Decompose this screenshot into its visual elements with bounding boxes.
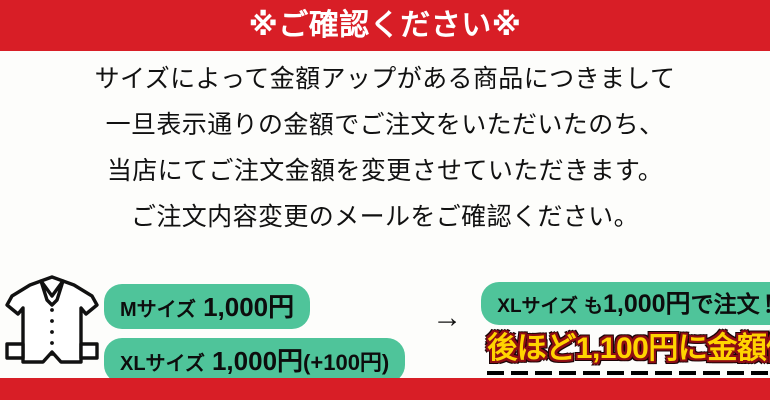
footer-banner — [0, 378, 770, 400]
right-arrow-icon: → — [432, 303, 462, 333]
xl-order-particle: も — [584, 291, 603, 318]
xl-order-price-badge: XLサイズ も 1,000円 で注文 ！ — [481, 282, 770, 325]
price-correction-row: 後ほど1,100円に金額修正 — [487, 332, 770, 375]
m-size-price-badge: Mサイズ 1,000円 — [104, 284, 310, 329]
before-price-column: Mサイズ 1,000円 XLサイズ 1,000円 (+100円) — [104, 268, 405, 383]
xl-size-amount: 1,000円 — [212, 341, 303, 378]
notice-line-4: ご注文内容変更のメールをご確認ください。 — [131, 194, 639, 240]
dashed-underline — [487, 371, 770, 375]
notice-line-1: サイズによって金額アップがある商品につきまして — [95, 56, 676, 102]
header-banner: ※ご確認ください※ — [0, 0, 770, 51]
xl-order-amount: 1,000円 — [603, 284, 691, 320]
notice-line-2: 一旦表示通りの金額でご注文をいただいたのち、 — [106, 102, 665, 148]
xl-order-tail-label: で注文 — [691, 285, 760, 319]
after-price-column: XLサイズ も 1,000円 で注文 ！ 後ほど1,100円に金額修正 — [481, 268, 770, 375]
xl-order-exclamation: ！ — [763, 285, 770, 319]
shirt-icon-wrapper — [0, 268, 104, 370]
xl-order-size-label: XLサイズ — [497, 291, 578, 318]
xl-size-surcharge: (+100円) — [303, 345, 389, 377]
xl-size-price-badge: XLサイズ 1,000円 (+100円) — [104, 338, 405, 383]
price-comparison-zone: Mサイズ 1,000円 XLサイズ 1,000円 (+100円) → XLサイズ… — [0, 268, 770, 378]
transition-arrow-wrapper: → — [411, 268, 483, 368]
notice-paragraph: サイズによって金額アップがある商品につきまして 一旦表示通りの金額でご注文をいた… — [0, 56, 770, 240]
m-size-amount: 1,000円 — [203, 287, 294, 324]
price-correction-text: 後ほど1,100円に金額修正 — [487, 332, 770, 366]
xl-size-label: XLサイズ — [120, 347, 205, 376]
page-title: ※ご確認ください※ — [249, 11, 522, 41]
dress-shirt-icon — [0, 274, 104, 370]
notice-line-3: 当店にてご注文金額を変更させていただきます。 — [107, 148, 663, 194]
m-size-label: Mサイズ — [120, 293, 196, 322]
